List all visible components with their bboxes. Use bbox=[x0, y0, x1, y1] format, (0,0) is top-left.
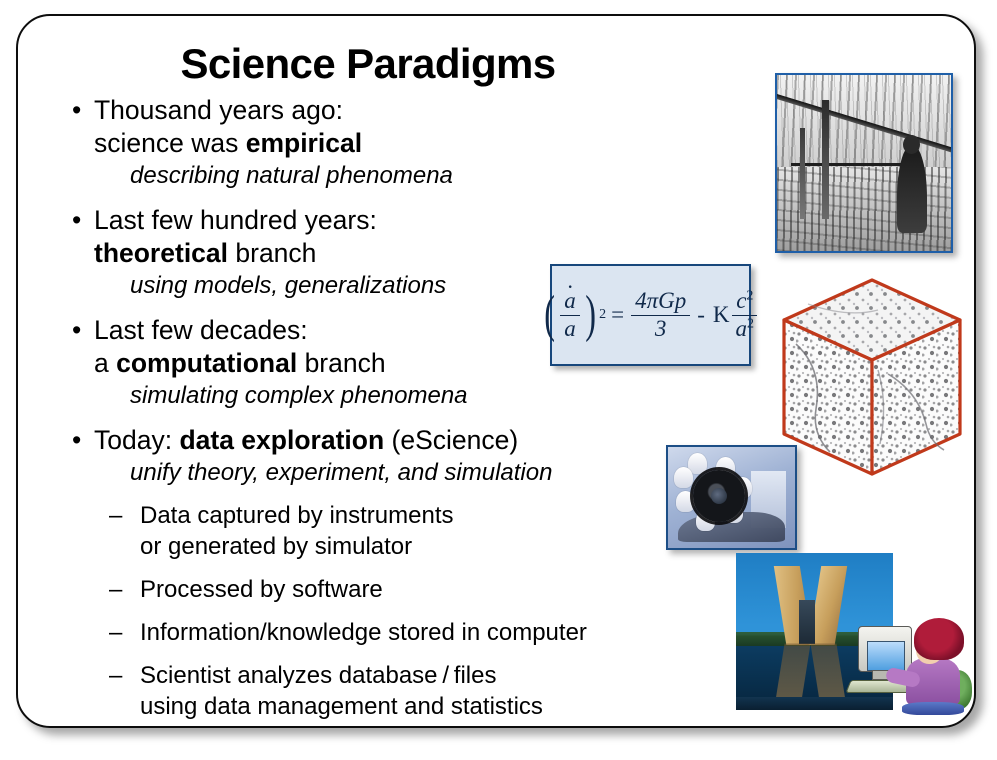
bullet-line-secondary: science was empirical bbox=[48, 127, 708, 160]
sub-bullet-item-information-stored: – Information/knowledge stored in comput… bbox=[48, 617, 698, 648]
building-reflection-right bbox=[810, 644, 845, 701]
bullet-subline: describing natural phenomena bbox=[48, 160, 708, 191]
bullet-line-primary: • Last few hundred years: bbox=[48, 204, 708, 237]
bullet-text-emphasis: empirical bbox=[246, 128, 362, 158]
scientist-at-computer-clipart bbox=[856, 618, 976, 713]
bullet-text-prefix: science was bbox=[94, 128, 246, 158]
building-center-gap bbox=[799, 600, 815, 644]
monitor-screen bbox=[867, 641, 905, 671]
paren-open: ( bbox=[544, 295, 555, 336]
spacer bbox=[48, 191, 708, 204]
bullet-text-suffix: branch bbox=[228, 238, 316, 268]
bullet-text: Last few hundred years: bbox=[94, 205, 377, 235]
monitor-icon bbox=[858, 626, 912, 672]
dash-marker-icon: – bbox=[109, 500, 122, 531]
c-symbol: c bbox=[736, 288, 746, 313]
lhs-denominator: a bbox=[560, 316, 580, 341]
bullet-text-suffix: branch bbox=[297, 348, 385, 378]
instrument-aperture bbox=[711, 488, 727, 504]
curvature-symbol: K bbox=[713, 302, 730, 328]
slide-root: Science Paradigms • Thousand years ago: … bbox=[0, 0, 997, 760]
slide-frame: Science Paradigms • Thousand years ago: … bbox=[16, 14, 976, 728]
rhs-denominator: 3 bbox=[651, 316, 671, 341]
bullet-text-prefix: a bbox=[94, 348, 116, 378]
spacer bbox=[48, 411, 708, 424]
astronomer-figure-head bbox=[903, 135, 920, 154]
a-exponent: 2 bbox=[747, 316, 754, 331]
bullet-marker-icon: • bbox=[72, 204, 81, 237]
a-symbol: a bbox=[736, 316, 748, 341]
spacer bbox=[48, 562, 698, 574]
sub-bullet-line: – Data captured by instruments bbox=[48, 500, 698, 531]
bullet-line-primary: • Thousand years ago: bbox=[48, 94, 708, 127]
instrument-petal bbox=[674, 467, 693, 488]
telescope-mast-secondary bbox=[800, 128, 805, 220]
sub-bullet-line: – Processed by software bbox=[48, 574, 698, 605]
bullet-item-data-exploration: •Today: data exploration (eScience) unif… bbox=[48, 424, 708, 488]
bullet-text-emphasis: theoretical bbox=[94, 238, 228, 268]
equals-sign: = bbox=[611, 302, 624, 328]
curvature-numerator: c2 bbox=[732, 289, 757, 315]
dash-marker-icon: – bbox=[109, 660, 122, 691]
dash-marker-icon: – bbox=[109, 617, 122, 648]
curvature-denominator: a2 bbox=[732, 316, 759, 341]
sub-bullet-text: Information/knowledge stored in computer bbox=[140, 619, 587, 646]
bullet-marker-icon: • bbox=[72, 314, 81, 347]
lhs-exponent: 2 bbox=[599, 307, 606, 323]
lhs-fraction: a a bbox=[560, 289, 580, 340]
bullet-text-emphasis: computational bbox=[116, 348, 297, 378]
sub-bullet-text: Data captured by instruments bbox=[140, 502, 454, 529]
telescope-mast bbox=[822, 100, 829, 220]
sub-bullet-list: – Data captured by instruments or genera… bbox=[48, 500, 698, 722]
bullet-subline: unify theory, experiment, and simulation bbox=[48, 457, 708, 488]
bullet-line-primary: •Today: data exploration (eScience) bbox=[48, 424, 708, 457]
astronomer-figure-body bbox=[897, 145, 927, 233]
formula-box: ( a a ) 2 = 4πGp 3 - K c2 a2 bbox=[550, 264, 751, 366]
building-reflection-left bbox=[775, 644, 810, 701]
bullet-text-emphasis: data exploration bbox=[179, 425, 384, 455]
sub-bullet-item-processed: – Processed by software bbox=[48, 574, 698, 605]
sub-bullet-line-cont: or generated by simulator bbox=[48, 531, 698, 562]
person-hair bbox=[914, 618, 964, 660]
c-exponent: 2 bbox=[746, 289, 753, 304]
telescope-engraving-image bbox=[775, 73, 953, 253]
dash-marker-icon: – bbox=[109, 574, 122, 605]
bullet-text-suffix: (eScience) bbox=[384, 425, 518, 455]
minus-sign: - bbox=[697, 302, 705, 328]
rhs-fraction: 4πGp 3 bbox=[631, 289, 690, 340]
curvature-fraction: c2 a2 bbox=[732, 289, 759, 340]
rhs-numerator: 4πGp bbox=[631, 289, 690, 315]
sub-bullet-item-scientist-analyzes: – Scientist analyzes database / files us… bbox=[48, 660, 698, 722]
sub-bullet-text: Processed by software bbox=[140, 576, 383, 603]
instrument-petal bbox=[676, 491, 695, 512]
lhs-numerator: a bbox=[560, 289, 580, 315]
bullet-text-prefix: Today: bbox=[94, 425, 179, 455]
spacer bbox=[48, 605, 698, 617]
sub-bullet-line: – Scientist analyzes database / files bbox=[48, 660, 698, 691]
sub-bullet-line-cont: using data management and statistics bbox=[48, 691, 698, 722]
bullet-item-empirical: • Thousand years ago: science was empiri… bbox=[48, 94, 708, 191]
sub-bullet-item-data-captured: – Data captured by instruments or genera… bbox=[48, 500, 698, 562]
friedmann-equation: ( a a ) 2 = 4πGp 3 - K c2 a2 bbox=[541, 289, 760, 340]
bullet-text: Thousand years ago: bbox=[94, 95, 343, 125]
page-title: Science Paradigms bbox=[18, 40, 718, 88]
bullet-subline: simulating complex phenomena bbox=[48, 380, 708, 411]
bullet-marker-icon: • bbox=[72, 424, 81, 457]
bullet-marker-icon: • bbox=[72, 94, 81, 127]
bullet-text: Last few decades: bbox=[94, 315, 308, 345]
spacer bbox=[48, 648, 698, 660]
simulation-cube-image bbox=[768, 274, 976, 482]
instrument-photo-image bbox=[666, 445, 797, 550]
cube-svg bbox=[768, 274, 976, 482]
sub-bullet-line: – Information/knowledge stored in comput… bbox=[48, 617, 698, 648]
sub-bullet-text: Scientist analyzes database / files bbox=[140, 662, 496, 689]
chair-base bbox=[902, 702, 964, 715]
paren-close: ) bbox=[585, 295, 596, 336]
